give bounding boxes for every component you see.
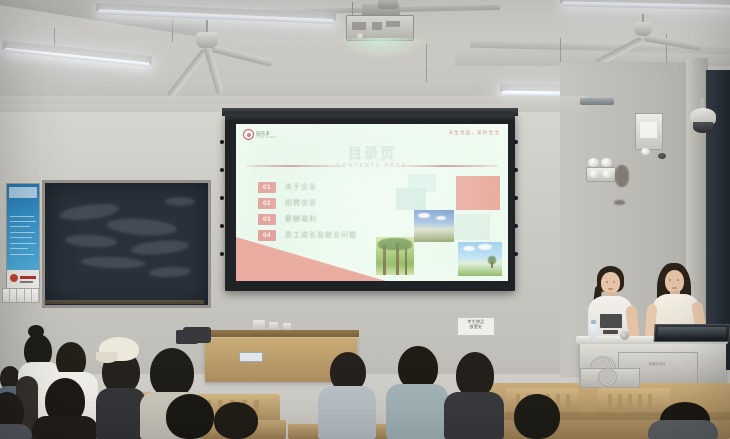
- water-bottle-cap: [591, 320, 596, 324]
- slide-item-label: 员工成长及就业问题: [285, 231, 357, 240]
- cap-brim: [96, 352, 118, 363]
- logo-mark-icon: [243, 129, 254, 140]
- wall-control-box: [635, 113, 663, 150]
- control-box-bulb: [641, 148, 650, 155]
- slide-item-label: 招聘信息: [285, 199, 317, 208]
- wall-sign: 考生物品放置处: [457, 317, 495, 336]
- slide-item-number: 02: [258, 198, 276, 209]
- lectern-knob[interactable]: [620, 331, 629, 340]
- light-hanger-6: [426, 44, 427, 82]
- emergency-light-dome-l: [588, 158, 599, 167]
- blackboard-chalk-tray: [44, 300, 204, 304]
- desk-item-box-3: [283, 323, 291, 330]
- logo-subtitle: YUAN LE DUO: [256, 136, 277, 139]
- divider-rule-left: [246, 165, 344, 167]
- front-desk-edge: [203, 330, 359, 337]
- poster-logo-icon: [10, 274, 18, 282]
- rear-wall-grille: [598, 368, 617, 386]
- control-box-label: [640, 122, 657, 138]
- water-bottle[interactable]: [590, 323, 597, 339]
- divider-rule-right: [400, 165, 498, 167]
- slide-item-04: 04 员工成长及就业问题: [258, 230, 357, 241]
- mint-block-b: [396, 188, 426, 210]
- light-hanger-2: [172, 20, 173, 42]
- wall-stain-2: [614, 200, 625, 205]
- slide-item-number: 04: [258, 230, 276, 241]
- wall-speaker: [580, 98, 614, 105]
- mint-block-c: [454, 214, 490, 240]
- slide-item-label: 关于企业: [285, 183, 317, 192]
- rear-equipment: [176, 330, 198, 344]
- lectern-monitor[interactable]: [654, 324, 730, 342]
- presenter-right-head: [665, 270, 684, 293]
- slide-item-number: 03: [258, 214, 276, 225]
- emergency-light-dome-r: [601, 158, 612, 167]
- presentation-slide: 园乐多 YUAN LE DUO 天生优品，美好生活 目录页 CONTENTS P…: [236, 124, 508, 281]
- poster-header: [9, 187, 37, 198]
- control-box-bulb-2: [658, 153, 666, 159]
- salmon-block: [456, 176, 500, 210]
- classroom-photo-scene: 园乐多 YUAN LE DUO 天生优品，美好生活 目录页 CONTENTS P…: [0, 0, 730, 439]
- road-photo: [414, 210, 454, 242]
- presenter-left-shirt-print: [600, 314, 622, 328]
- wall-stain: [615, 165, 629, 187]
- safety-poster: [6, 183, 40, 289]
- blackboard: [42, 180, 211, 308]
- slide-title: 目录页: [236, 146, 508, 161]
- hair-bun: [28, 325, 44, 338]
- light-switch-panel[interactable]: [2, 288, 40, 303]
- desk-item-box-2: [269, 322, 278, 330]
- sky-photo: [458, 242, 502, 276]
- emergency-light: [586, 167, 616, 182]
- slide-logo: 园乐多 YUAN LE DUO: [243, 129, 277, 140]
- presenter-left-head: [601, 272, 620, 294]
- desk-item-box-1: [253, 320, 265, 330]
- slide-item-03: 03 薪酬福利: [258, 214, 317, 225]
- slide-item-number: 01: [258, 182, 276, 193]
- desk-control-label: [239, 352, 263, 362]
- lectern-label: 多媒体讲台: [636, 362, 678, 366]
- slide-item-label: 薪酬福利: [285, 215, 317, 224]
- screen-top-bar: [225, 114, 515, 122]
- slide-tagline: 天生优品，美好生活: [390, 130, 500, 136]
- corner-triangle: [236, 237, 386, 281]
- slide-item-01: 01 关于企业: [258, 182, 317, 193]
- slide-item-02: 02 招聘信息: [258, 198, 317, 209]
